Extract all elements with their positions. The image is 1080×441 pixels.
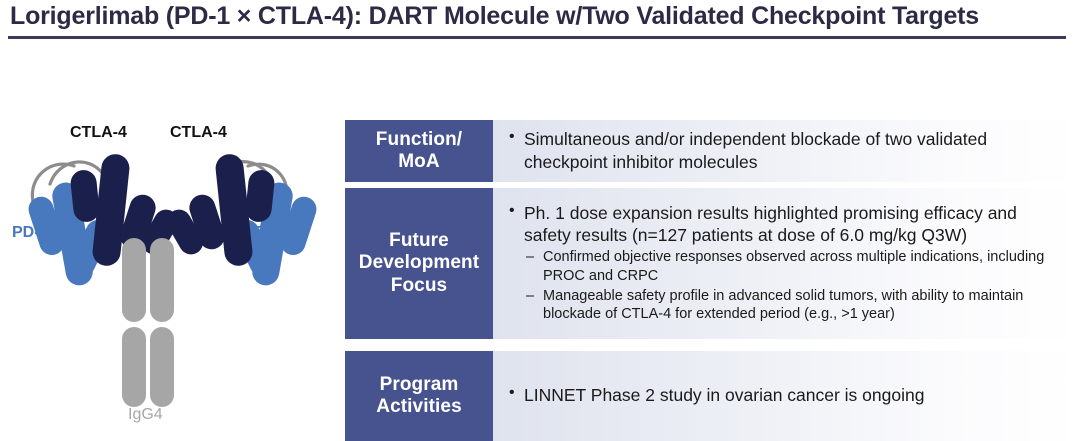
row-label-line: Future [359, 230, 479, 252]
bullet-list: Ph. 1 dose expansion results highlighted… [507, 202, 1068, 325]
sub-bullet-item: Confirmed objective responses observed a… [524, 248, 1068, 285]
row-content-function-moa: Simultaneous and/or independent blockade… [493, 120, 1080, 182]
ctla4-domain-right-main [214, 153, 254, 267]
bullet-list: LINNET Phase 2 study in ovarian cancer i… [507, 384, 1068, 407]
igg4-ch3-left [122, 327, 146, 407]
row-label-line: Program [376, 374, 461, 396]
info-table: Function/ MoA Simultaneous and/or indepe… [345, 120, 1080, 441]
row-label-line: Activities [376, 396, 461, 418]
right-arm-group [163, 153, 320, 288]
igg4-ch2-left [122, 238, 146, 322]
row-label-line: Focus [359, 275, 479, 297]
row-label-line: Development [359, 252, 479, 274]
table-row: Program Activities LINNET Phase 2 study … [345, 351, 1080, 441]
label-pd1-right: PD-1 [255, 224, 291, 242]
bullet-item: LINNET Phase 2 study in ovarian cancer i… [507, 384, 1068, 406]
row-content-future-development-focus: Ph. 1 dose expansion results highlighted… [493, 188, 1080, 339]
label-ctla4-right: CTLA-4 [170, 124, 227, 142]
row-label-line: Function/ [376, 129, 462, 151]
antibody-diagram: CTLA-4 CTLA-4 PD-1 PD-1 IgG4 [0, 96, 345, 441]
row-label-function-moa: Function/ MoA [345, 120, 493, 182]
bullet-list: Simultaneous and/or independent blockade… [507, 128, 1068, 173]
row-label-future-development-focus: Future Development Focus [345, 188, 493, 339]
igg4-ch2-right [150, 238, 174, 322]
row-label-line: MoA [376, 151, 462, 173]
bullet-item: Ph. 1 dose expansion results highlighted… [507, 202, 1068, 324]
label-ctla4-left: CTLA-4 [70, 124, 127, 142]
label-pd1-left: PD-1 [12, 224, 48, 242]
bullet-item: Simultaneous and/or independent blockade… [507, 128, 1068, 172]
bullet-text: Ph. 1 dose expansion results highlighted… [524, 203, 1017, 245]
row-content-program-activities: LINNET Phase 2 study in ovarian cancer i… [493, 351, 1080, 441]
row-label-program-activities: Program Activities [345, 351, 493, 441]
antibody-molecule-svg [0, 96, 345, 441]
label-igg4: IgG4 [128, 406, 163, 424]
igg4-ch3-right [150, 327, 174, 407]
page-title: Lorigerlimab (PD-1 × CTLA-4): DART Molec… [10, 2, 1070, 31]
header-underline [8, 36, 1066, 39]
table-row: Future Development Focus Ph. 1 dose expa… [345, 188, 1080, 339]
sub-bullet-item: Manageable safety profile in advanced so… [524, 287, 1068, 324]
sub-bullet-list: Confirmed objective responses observed a… [524, 248, 1068, 324]
igg4-fc-stem-group [122, 238, 174, 407]
table-row: Function/ MoA Simultaneous and/or indepe… [345, 120, 1080, 182]
